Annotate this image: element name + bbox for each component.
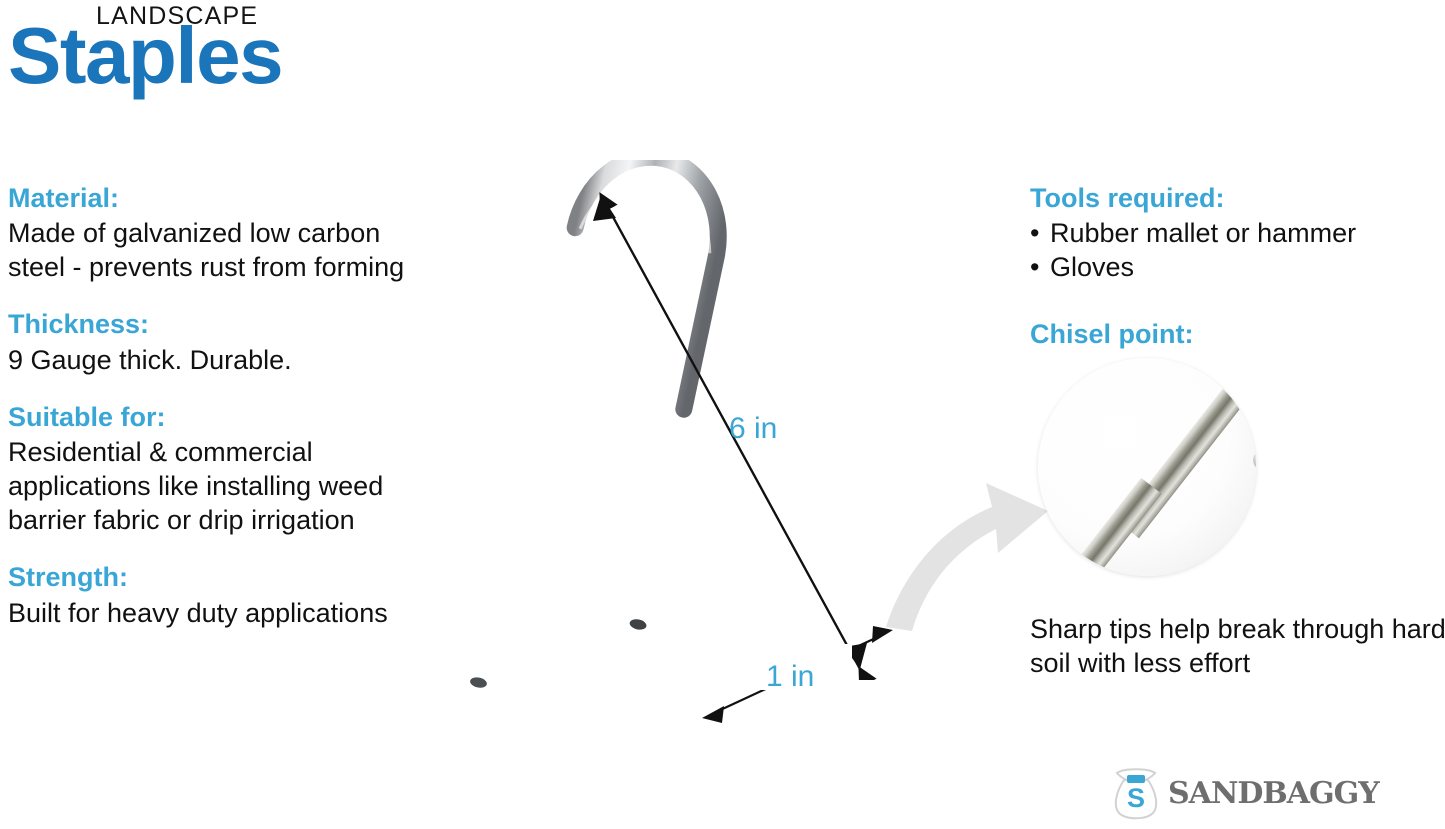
chisel-tip-upper <box>1249 444 1256 477</box>
brand-logo: S sandbaggy <box>1110 762 1440 824</box>
feature-material-body: Made of galvanized low carbon steel - pr… <box>8 216 428 284</box>
dimension-label-length: 6 in <box>729 414 777 444</box>
feature-material-heading: Material: <box>8 182 428 214</box>
brand-name: sandbaggy <box>1168 768 1379 811</box>
tools-required-list: Rubber mallet or hammer Gloves <box>1030 216 1445 284</box>
feature-suitable-for-heading: Suitable for: <box>8 401 428 433</box>
feature-strength: Strength: Built for heavy duty applicati… <box>8 561 428 629</box>
feature-strength-heading: Strength: <box>8 561 428 593</box>
page-title: LANDSCAPE Staples <box>8 2 428 114</box>
chisel-point-caption: Sharp tips help break through hard soil … <box>1030 612 1445 680</box>
landscape-staple-illustration <box>430 160 930 800</box>
features-right-column: Tools required: Rubber mallet or hammer … <box>1030 182 1445 353</box>
dimension-label-width: 1 in <box>766 662 814 692</box>
tools-required: Tools required: Rubber mallet or hammer … <box>1030 182 1445 284</box>
sandbag-icon: S <box>1110 762 1162 820</box>
feature-suitable-for: Suitable for: Residential & commercial a… <box>8 401 428 537</box>
feature-strength-body: Built for heavy duty applications <box>8 596 428 630</box>
feature-thickness-heading: Thickness: <box>8 308 428 340</box>
chisel-point-zoom-circle <box>1038 358 1256 576</box>
chisel-point-heading: Chisel point: <box>1030 318 1445 350</box>
chisel-point: Chisel point: <box>1030 318 1445 350</box>
feature-suitable-for-body: Residential & commercial applications li… <box>8 435 428 537</box>
feature-thickness: Thickness: 9 Gauge thick. Durable. <box>8 308 428 376</box>
feature-material: Material: Made of galvanized low carbon … <box>8 182 428 284</box>
svg-text:S: S <box>1127 783 1145 813</box>
tools-required-heading: Tools required: <box>1030 182 1445 214</box>
feature-thickness-body: 9 Gauge thick. Durable. <box>8 343 428 377</box>
list-item: Rubber mallet or hammer <box>1030 216 1445 250</box>
title-wordmark: Staples <box>8 16 282 96</box>
infographic-page: LANDSCAPE Staples Material: Made of galv… <box>0 0 1445 829</box>
features-left-column: Material: Made of galvanized low carbon … <box>8 182 428 630</box>
list-item: Gloves <box>1030 250 1445 284</box>
